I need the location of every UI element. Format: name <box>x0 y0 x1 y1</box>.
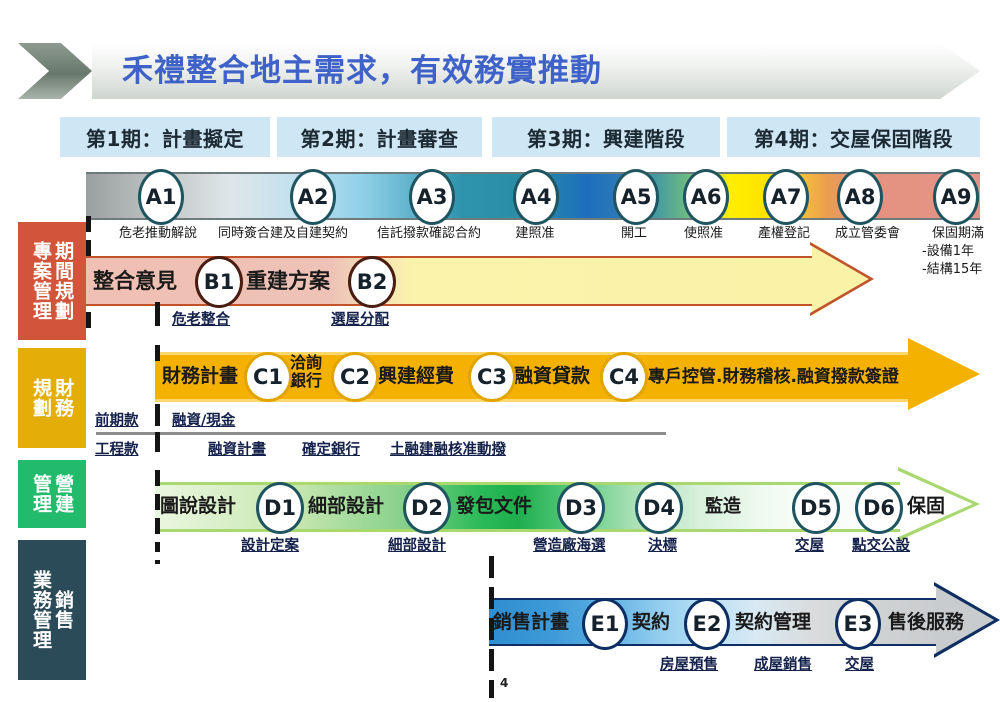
tick-b-to-c <box>155 302 160 326</box>
row-c-sub1-item-1: 融資/現金 <box>172 409 235 430</box>
milestone-marker-a7[interactable]: A7 <box>763 169 809 225</box>
row-b-segment-2: 重建方案 <box>246 265 330 295</box>
milestone-marker-a4[interactable]: A4 <box>513 169 559 225</box>
row-d-marker-d3[interactable]: D3 <box>557 482 605 534</box>
row-d-under-label-d4: 決標 <box>648 534 677 555</box>
row-c-sub2-item-3: 土融建融核准動撥 <box>390 438 506 459</box>
row-d-under-label-d5: 交屋 <box>795 534 824 555</box>
row-c-sub2-item-1: 融資計畫 <box>208 438 266 459</box>
row-d-marker-d6[interactable]: D6 <box>855 482 903 534</box>
row-c-divider <box>96 432 666 435</box>
phase-box-4[interactable]: 第4期：交屋保固階段 <box>727 117 980 157</box>
page-title: 禾禮整合地主需求，有效務實推動 <box>92 56 602 87</box>
phase-header-row: 第1期：計畫擬定 第2期：計畫審查 第3期：興建階段 第4期：交屋保固階段 <box>0 117 1000 157</box>
page-number: 4 <box>500 676 508 690</box>
milestone-marker-a5[interactable]: A5 <box>613 169 659 225</box>
row-e-marker-e2[interactable]: E2 <box>684 598 730 650</box>
row-d-marker-d5[interactable]: D5 <box>792 482 840 534</box>
row-c-marker-c4[interactable]: C4 <box>600 352 648 402</box>
row-b-project-management: 整合意見 重建方案 B1 B2 <box>0 256 1000 316</box>
row-e-marker-e1[interactable]: E1 <box>582 598 628 650</box>
milestone-marker-a1[interactable]: A1 <box>138 169 184 225</box>
row-e-segment-2: 契約 <box>632 607 670 634</box>
row-c-segment-3: 興建經費 <box>378 361 454 388</box>
row-b-segment-1: 整合意見 <box>93 265 177 295</box>
row-d-under-label-d2: 細部設計 <box>388 534 446 555</box>
row-b-under-label-b1: 危老整合 <box>172 308 230 329</box>
slide-canvas: 禾禮整合地主需求，有效務實推動 第1期：計畫擬定 第2期：計畫審查 第3期：興建… <box>0 0 1000 702</box>
row-c-segment-1: 財務計畫 <box>162 361 238 388</box>
title-banner: 禾禮整合地主需求，有效務實推動 <box>18 43 980 99</box>
row-b-marker-b1[interactable]: B1 <box>195 256 243 308</box>
timeline-tick-column-e <box>489 556 494 698</box>
row-e-segment-4: 售後服務 <box>888 607 964 634</box>
row-c-sub2-item-2: 確定銀行 <box>302 438 360 459</box>
row-e-segment-1: 銷售計畫 <box>493 607 569 634</box>
row-d-segment-3: 發包文件 <box>456 491 532 518</box>
row-e-under-label-e1: 房屋預售 <box>660 653 718 674</box>
title-bar: 禾禮整合地主需求，有效務實推動 <box>92 43 980 99</box>
tick-c-sub1 <box>155 404 160 426</box>
row-d-segment-5: 保固 <box>907 491 945 518</box>
row-c-segment-5: 專戶控管.財務稽核.融資撥款簽證 <box>648 362 899 387</box>
tick-c-sub2 <box>155 432 160 452</box>
phase-box-1[interactable]: 第1期：計畫擬定 <box>60 117 270 157</box>
row-b-marker-b2[interactable]: B2 <box>348 256 396 308</box>
row-d-segment-2: 細部設計 <box>308 491 384 518</box>
tick-c-top <box>155 345 160 361</box>
milestone-marker-a3[interactable]: A3 <box>409 169 455 225</box>
milestone-label-a2: 同時簽合建及自建契約 <box>212 222 354 241</box>
row-c-arrow-head <box>908 338 980 410</box>
milestone-marker-a8[interactable]: A8 <box>837 169 883 225</box>
row-c-marker-c2[interactable]: C2 <box>331 352 379 402</box>
milestone-marker-a2[interactable]: A2 <box>290 169 336 225</box>
row-c-marker-c3[interactable]: C3 <box>468 352 516 402</box>
row-e-under-label-e2: 成屋銷售 <box>754 653 812 674</box>
row-c-segment-2: 洽詢 銀行 <box>290 354 322 390</box>
row-c-finance: 財務計畫 洽詢 銀行 興建經費 融資貸款 專戶控管.財務稽核.融資撥款簽證 C1… <box>0 352 1000 412</box>
row-c-subtag-1: 前期款 <box>95 409 139 430</box>
chevron-left-decor-icon <box>18 43 92 99</box>
row-d-under-label-d3: 營造廠海選 <box>533 534 606 555</box>
row-d-marker-d4[interactable]: D4 <box>635 482 683 534</box>
row-a-milestones: A1 A2 A3 A4 A5 A6 A7 A8 A9 <box>0 172 1000 216</box>
row-d-construction: 圖說設計 細部設計 發包文件 監造 保固 D1 D2 D3 D4 D5 D6 <box>0 482 1000 542</box>
timeline-tick-column-d <box>155 470 160 564</box>
row-d-under-label-d6: 點交公設 <box>852 534 910 555</box>
row-d-segment-1: 圖說設計 <box>160 491 236 518</box>
row-e-segment-3: 契約管理 <box>735 607 811 634</box>
row-d-marker-d1[interactable]: D1 <box>256 482 304 534</box>
milestone-label-a8: 成立管委會 <box>820 222 915 241</box>
row-d-segment-4: 監造 <box>705 492 741 518</box>
row-d-under-label-d1: 設計定案 <box>241 534 299 555</box>
row-b-arrow-head <box>812 242 872 316</box>
row-e-sales: 銷售計畫 契約 契約管理 售後服務 E1 E2 E3 <box>0 598 1000 658</box>
phase-box-2[interactable]: 第2期：計畫審查 <box>277 117 482 157</box>
row-c-marker-c1[interactable]: C1 <box>244 352 292 402</box>
row-e-under-label-e3: 交屋 <box>845 653 874 674</box>
row-c-subtag-2: 工程款 <box>95 438 139 459</box>
row-d-marker-d2[interactable]: D2 <box>403 482 451 534</box>
row-e-marker-e3[interactable]: E3 <box>835 598 881 650</box>
phase-box-3[interactable]: 第3期：興建階段 <box>492 117 720 157</box>
row-b-under-label-b2: 選屋分配 <box>331 308 389 329</box>
milestone-marker-a6[interactable]: A6 <box>683 169 729 225</box>
row-c-segment-4: 融資貸款 <box>514 361 590 388</box>
milestone-marker-a9[interactable]: A9 <box>933 169 979 225</box>
